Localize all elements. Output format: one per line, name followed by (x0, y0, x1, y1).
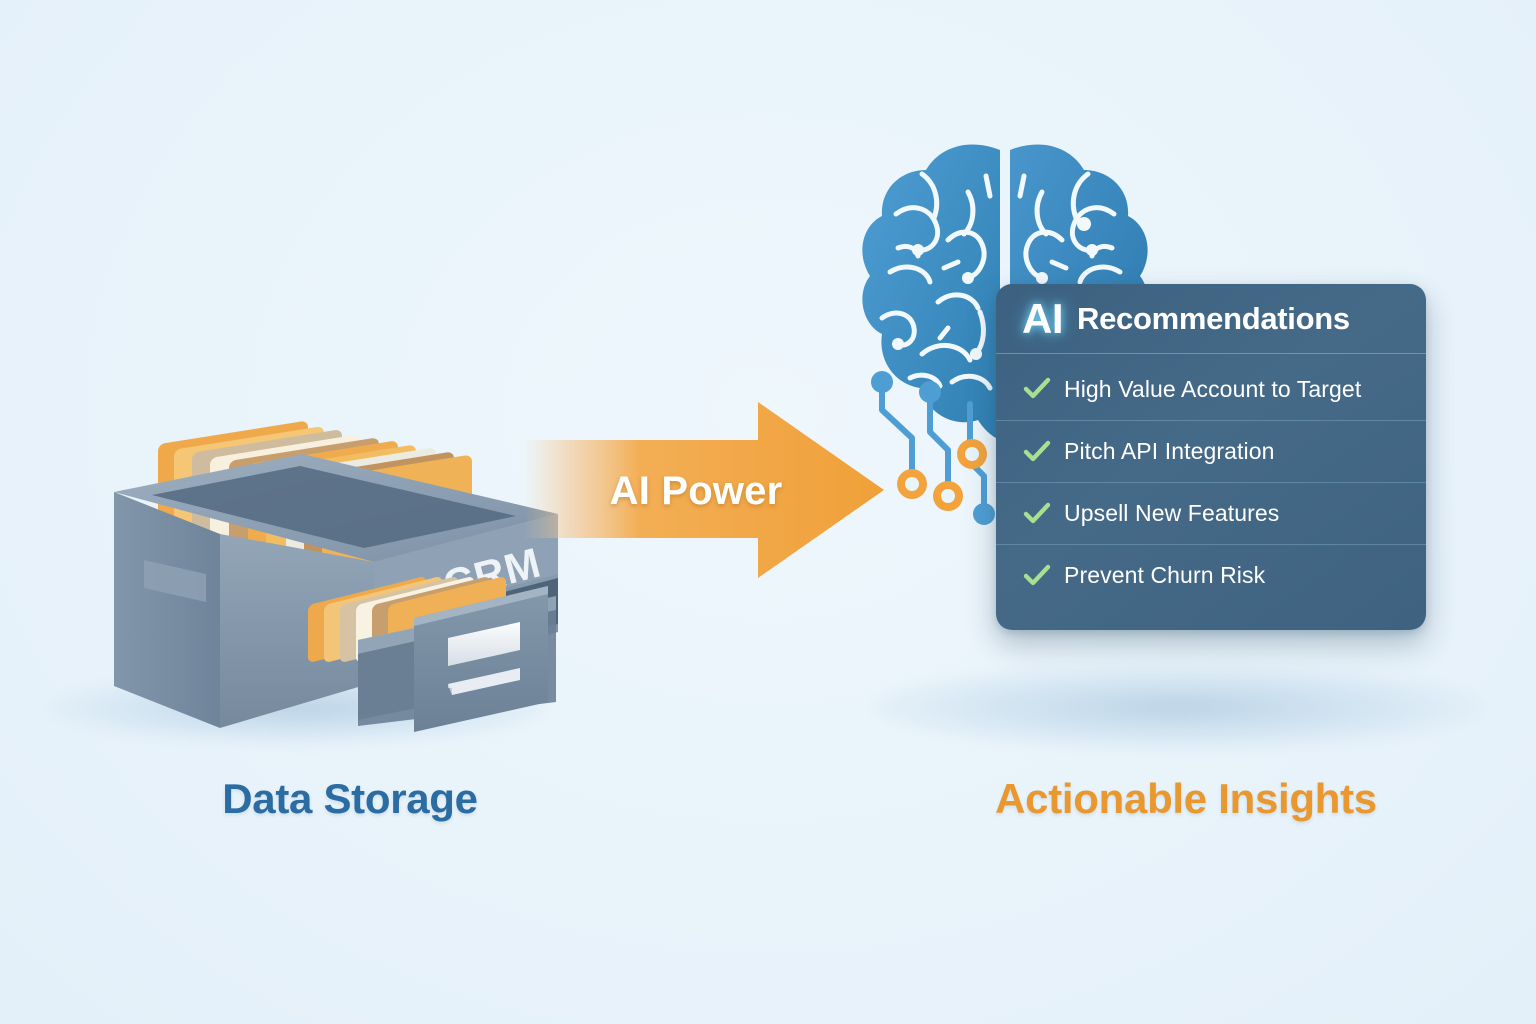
left-caption: Data Storage (0, 775, 700, 823)
ai-recommendations-card: AI Recommendations High Value Account to… (996, 284, 1426, 630)
list-item[interactable]: High Value Account to Target (996, 358, 1426, 420)
list-item[interactable]: Pitch API Integration (996, 420, 1426, 482)
list-item-label: High Value Account to Target (1064, 376, 1361, 403)
check-icon (1022, 561, 1052, 591)
check-icon (1022, 437, 1052, 467)
check-icon (1022, 374, 1052, 404)
check-icon (1022, 499, 1052, 529)
list-item[interactable]: Upsell New Features (996, 482, 1426, 544)
list-item-label: Pitch API Integration (1064, 438, 1275, 465)
insights-floor-shadow (870, 664, 1484, 750)
list-item-label: Prevent Churn Risk (1064, 562, 1265, 589)
list-item[interactable]: Prevent Churn Risk (996, 544, 1426, 606)
ai-accent-text: AI (1022, 295, 1063, 343)
diagram-canvas: CRM (0, 0, 1536, 1024)
filing-cabinet-illustration: CRM (96, 396, 566, 736)
arrow-label: AI Power (556, 460, 836, 522)
ai-card-header: AI Recommendations (996, 284, 1426, 354)
list-item-label: Upsell New Features (1064, 500, 1279, 527)
right-caption: Actionable Insights (836, 775, 1536, 823)
ai-card-title: Recommendations (1077, 301, 1350, 337)
ai-recommendation-list: High Value Account to Target Pitch API I… (996, 354, 1426, 606)
